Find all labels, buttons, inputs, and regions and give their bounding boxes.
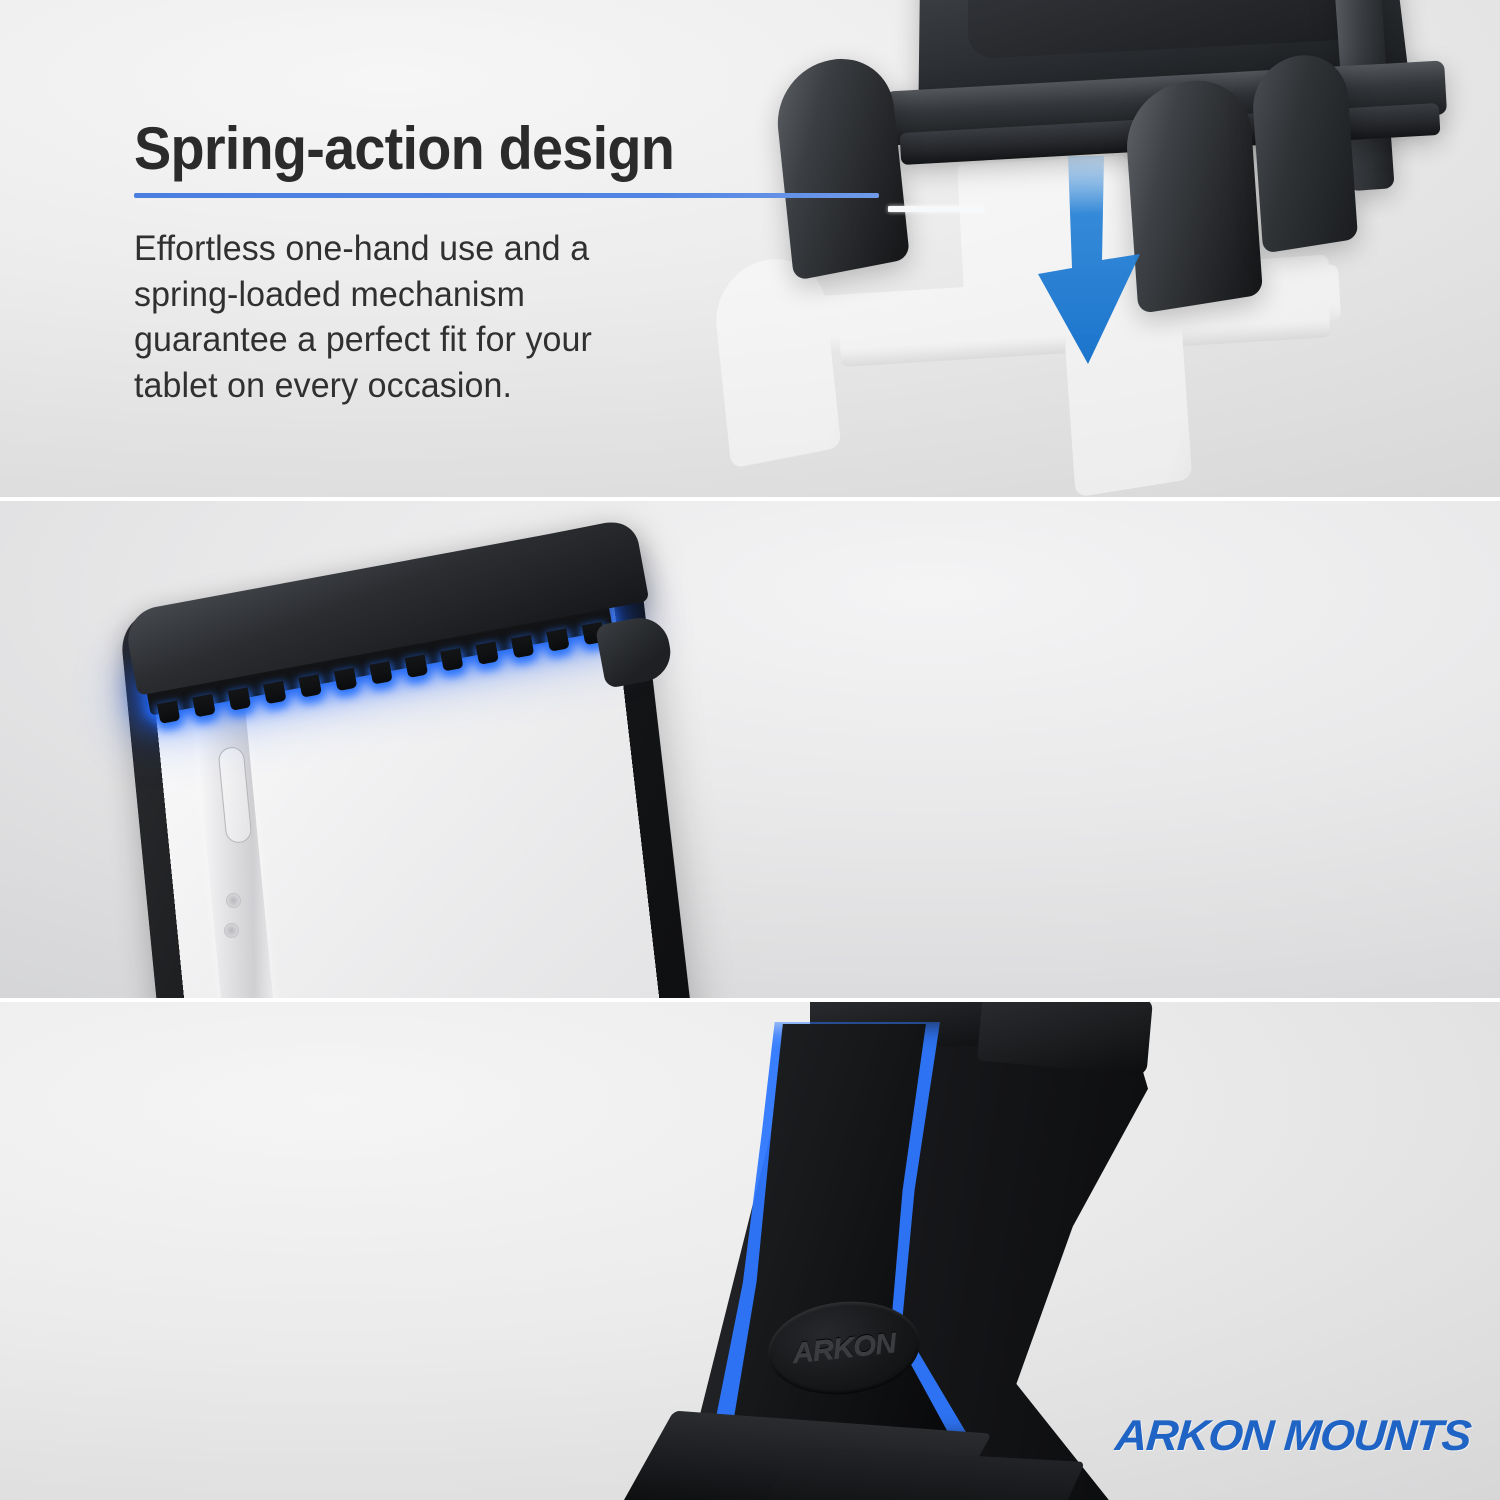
- panel-divider: [0, 998, 1500, 1002]
- tablet-speaker-dot: [226, 893, 241, 908]
- description-line: tablet on every occasion.: [134, 363, 794, 409]
- spring-clamp-illustration: [700, 0, 1500, 497]
- feature-panel-grip-enhance: Grip-enhance grooves Designed to accommo…: [0, 501, 1500, 998]
- infographic-sheet: Spring-action design Effortless one-hand…: [0, 0, 1500, 1500]
- tablet-grooved-grip-illustration: [40, 541, 740, 998]
- clamp-right-paddle-outer: [1250, 48, 1358, 253]
- clamp-arm-tip: [595, 613, 675, 689]
- description-line: guarantee a perfect fit for your: [134, 317, 794, 363]
- panel-divider: [0, 497, 1500, 501]
- arkon-mounts-logo: ARKON MOUNTS: [1113, 1412, 1472, 1461]
- page-title: Spring-action design: [134, 118, 766, 179]
- tablet-speaker-dot: [224, 923, 239, 938]
- feature-description: Effortless one-hand use and a spring-loa…: [134, 226, 794, 408]
- title-underline: [134, 193, 879, 198]
- callout-leader-line: [888, 206, 984, 212]
- feature-panel-spring-action: Spring-action design Effortless one-hand…: [0, 0, 1500, 497]
- feature-text-spring-action: Spring-action design Effortless one-hand…: [134, 118, 814, 408]
- description-line: spring-loaded mechanism: [134, 272, 794, 318]
- down-arrow-icon: [1022, 156, 1152, 366]
- arkon-emboss-text: ARKON: [791, 1327, 897, 1370]
- description-line: Effortless one-hand use and a: [134, 226, 794, 272]
